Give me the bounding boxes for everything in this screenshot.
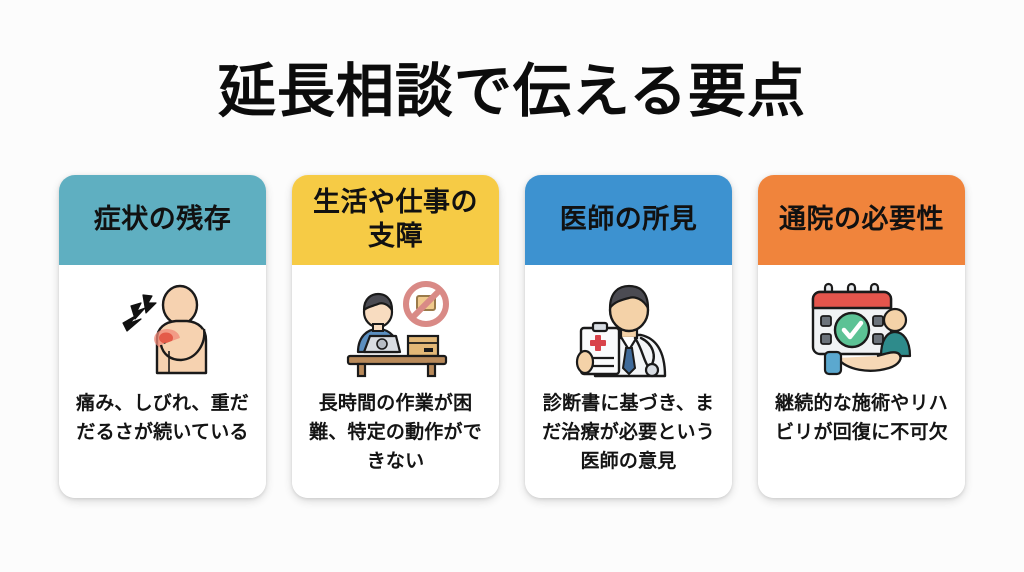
calendar-care-hand-icon bbox=[803, 279, 921, 379]
card-header-doctor-opinion: 医師の所見 bbox=[525, 175, 732, 265]
card-body-symptom-persistence: 痛み、しびれ、重だだるさが続いている bbox=[59, 265, 266, 498]
card-body-daily-work-impairment: 長時間の作業が困難、特定の動作ができない bbox=[292, 265, 499, 498]
card-symptom-persistence[interactable]: 症状の残存 bbox=[59, 175, 266, 498]
card-header-clinic-visit-necessity: 通院の必要性 bbox=[758, 175, 965, 265]
card-row: 症状の残存 bbox=[59, 175, 965, 498]
card-daily-work-impairment[interactable]: 生活や仕事の支障 bbox=[292, 175, 499, 498]
card-header-symptom-persistence: 症状の残存 bbox=[59, 175, 266, 265]
card-body-doctor-opinion: 診断書に基づき、まだ治療が必要という医師の意見 bbox=[525, 265, 732, 498]
desk-worker-restricted-icon bbox=[337, 279, 455, 379]
doctor-clipboard-icon bbox=[570, 279, 688, 379]
shoulder-pain-icon bbox=[104, 279, 222, 379]
infographic-page: 延長相談で伝える要点 症状の残存 bbox=[0, 0, 1024, 572]
card-text-doctor-opinion: 診断書に基づき、まだ治療が必要という医師の意見 bbox=[535, 389, 722, 476]
card-header-daily-work-impairment: 生活や仕事の支障 bbox=[292, 175, 499, 265]
card-text-clinic-visit-necessity: 継続的な施術やリハビリが回復に不可欠 bbox=[768, 389, 955, 447]
card-doctor-opinion[interactable]: 医師の所見 bbox=[525, 175, 732, 498]
card-body-clinic-visit-necessity: 継続的な施術やリハビリが回復に不可欠 bbox=[758, 265, 965, 498]
card-text-daily-work-impairment: 長時間の作業が困難、特定の動作ができない bbox=[302, 389, 489, 476]
card-text-symptom-persistence: 痛み、しびれ、重だだるさが続いている bbox=[69, 389, 256, 447]
card-clinic-visit-necessity[interactable]: 通院の必要性 bbox=[758, 175, 965, 498]
page-title: 延長相談で伝える要点 bbox=[0, 58, 1024, 124]
